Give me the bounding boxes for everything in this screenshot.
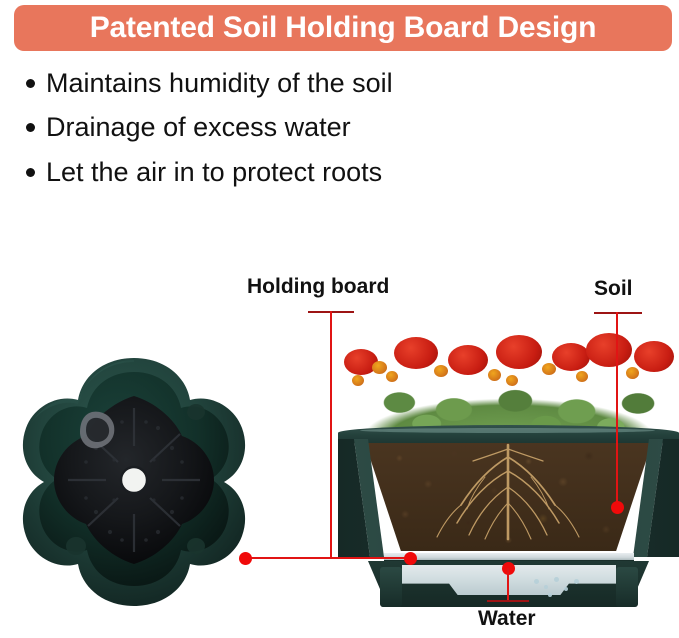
- bloom-red: [394, 337, 438, 369]
- leader-water-bar: [487, 600, 529, 602]
- feature-text: Drainage of excess water: [46, 112, 351, 143]
- bloom-orange: [372, 361, 387, 374]
- infographic-page: Patented Soil Holding Board Design Maint…: [0, 0, 679, 638]
- bloom-orange: [434, 365, 448, 377]
- leader-holding-board-horizontal: [245, 557, 411, 559]
- water-bubble: [544, 585, 548, 589]
- water-bubble: [564, 587, 568, 591]
- water-bubble: [554, 577, 559, 582]
- page-title: Patented Soil Holding Board Design: [90, 13, 597, 43]
- bloom-red: [634, 341, 674, 372]
- product-diagram: Holding board Soil Water: [0, 255, 679, 638]
- feature-text: Let the air in to protect roots: [46, 157, 382, 188]
- bloom-orange: [352, 375, 364, 386]
- roots-svg: [365, 443, 652, 551]
- leader-holding-board-vertical: [330, 311, 332, 559]
- bloom-orange: [542, 363, 556, 375]
- water-bubble: [548, 593, 552, 597]
- label-holding-board: Holding board: [247, 275, 389, 299]
- clover-planter-svg: [14, 350, 254, 615]
- label-soil: Soil: [594, 277, 633, 301]
- bloom-red: [552, 343, 590, 371]
- bloom-orange: [626, 367, 639, 379]
- header-banner: Patented Soil Holding Board Design: [14, 5, 672, 51]
- leader-water-vertical: [507, 568, 509, 601]
- list-item: Let the air in to protect roots: [26, 157, 546, 188]
- root-system: [365, 443, 652, 551]
- callout-dot-holding-board-right: [404, 552, 417, 565]
- water-bubble: [534, 579, 539, 584]
- bullet-dot-icon: [26, 123, 35, 132]
- callout-dot-holding-board-left: [239, 552, 252, 565]
- pot-body: [338, 439, 679, 561]
- leader-soil-tbar: [594, 312, 642, 314]
- water-bubble: [574, 579, 579, 584]
- bloom-orange: [488, 369, 501, 381]
- flower-cluster: [338, 313, 679, 436]
- feature-list: Maintains humidity of the soil Drainage …: [26, 68, 546, 201]
- bullet-dot-icon: [26, 168, 35, 177]
- bloom-orange: [386, 371, 398, 382]
- bloom-red: [496, 335, 542, 369]
- reservoir-foot-right: [616, 567, 638, 607]
- bullet-dot-icon: [26, 79, 35, 88]
- leader-soil-vertical: [616, 312, 618, 507]
- bloom-red: [586, 333, 632, 367]
- bloom-red: [448, 345, 488, 375]
- list-item: Maintains humidity of the soil: [26, 68, 546, 99]
- bloom-orange: [506, 375, 518, 386]
- clover-planter-image: [14, 350, 254, 615]
- callout-dot-soil: [611, 501, 624, 514]
- label-water: Water: [478, 607, 536, 631]
- bloom-orange: [576, 371, 588, 382]
- reservoir-foot-left: [380, 567, 402, 607]
- list-item: Drainage of excess water: [26, 112, 546, 143]
- pot-rim-highlight: [360, 428, 655, 433]
- feature-text: Maintains humidity of the soil: [46, 68, 393, 99]
